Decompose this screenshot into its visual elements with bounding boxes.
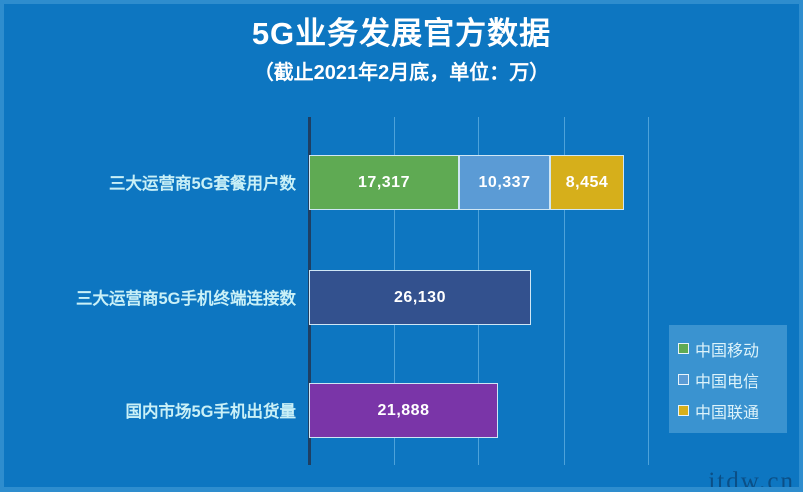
gridline-4 [648,117,649,465]
chart-title: 5G业务发展官方数据 [0,14,803,54]
legend-item-china-telecom[interactable]: 中国电信 [678,364,780,395]
chart-canvas: 5G业务发展官方数据 （截止2021年2月底，单位：万） 三大运营商5G套餐用户… [0,0,803,492]
legend-swatch-icon-china-unicom [678,405,689,416]
bar-5g-terminal-connections[interactable]: 26,130 [309,270,531,325]
legend-label-china-mobile: 中国移动 [695,337,759,361]
bar-segment-china-telecom[interactable]: 10,337 [459,155,550,210]
legend-swatch-icon-china-telecom [678,374,689,385]
category-label-5g-terminal-connections: 三大运营商5G手机终端连接数 [0,285,296,309]
title-block: 5G业务发展官方数据 （截止2021年2月底，单位：万） [0,14,803,88]
legend: 中国移动 中国电信 中国联通 [669,325,787,433]
bar-value-china-telecom: 10,337 [479,174,531,192]
bar-5g-phone-shipments[interactable]: 21,888 [309,383,498,438]
legend-swatch-icon-china-mobile [678,343,689,354]
legend-item-china-unicom[interactable]: 中国联通 [678,395,780,426]
legend-label-china-telecom: 中国电信 [695,368,759,392]
legend-item-china-mobile[interactable]: 中国移动 [678,333,780,364]
bar-value-china-mobile: 17,317 [358,174,410,192]
bar-value-5g-terminal-connections: 26,130 [394,289,446,307]
bar-segment-china-unicom[interactable]: 8,454 [550,155,624,210]
category-label-5g-package-users: 三大运营商5G套餐用户数 [0,170,296,194]
bar-value-5g-phone-shipments: 21,888 [378,402,430,420]
chart-subtitle: （截止2021年2月底，单位：万） [0,58,803,88]
legend-label-china-unicom: 中国联通 [695,399,759,423]
category-label-5g-phone-shipments: 国内市场5G手机出货量 [0,398,296,422]
bottom-edge-strip [0,487,803,492]
bar-segment-china-mobile[interactable]: 17,317 [309,155,459,210]
bar-value-china-unicom: 8,454 [566,174,609,192]
